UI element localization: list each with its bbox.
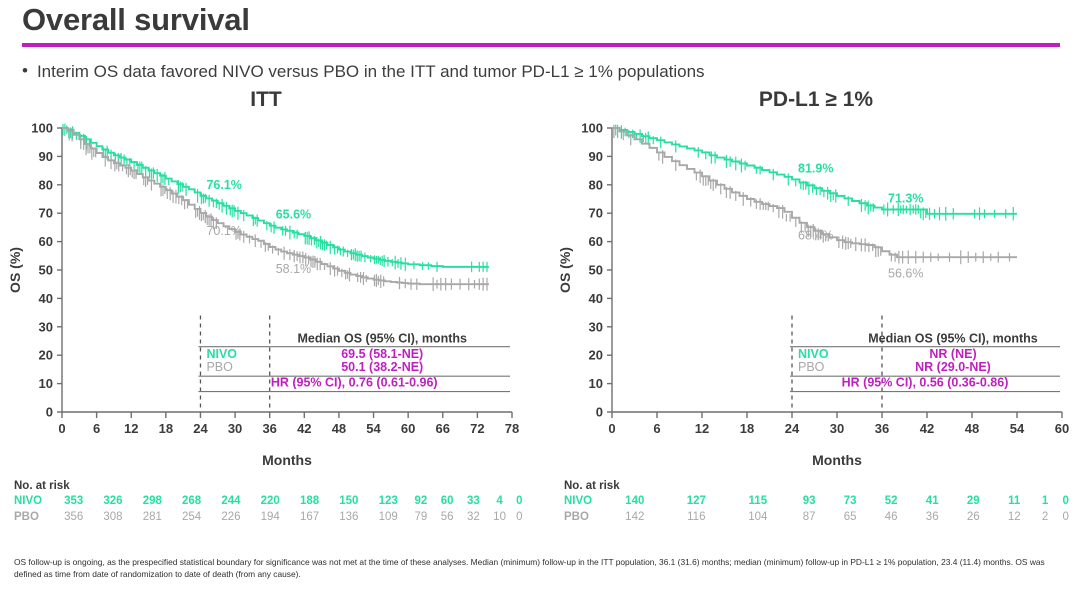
at-risk-cell: 167 [290, 510, 329, 526]
at-risk-cell: 0 [1055, 510, 1076, 526]
at-risk-row-label: PBO [564, 510, 604, 526]
at-risk-cell: 356 [54, 510, 93, 526]
at-risk-row-pbo: PBO356308281254226194167136109795632100 [14, 510, 526, 526]
at-risk-cell: 0 [1055, 494, 1076, 510]
svg-text:OS (%): OS (%) [557, 247, 573, 293]
at-risk-cell: 326 [93, 494, 132, 510]
page-title: Overall survival [22, 2, 250, 38]
title-underline-rule [22, 43, 1060, 47]
svg-text:Median OS (95% CI), months: Median OS (95% CI), months [868, 331, 1038, 345]
at-risk-cell: 127 [666, 494, 728, 510]
at-risk-cell: 2 [1035, 510, 1056, 526]
at-risk-cell: 32 [460, 510, 486, 526]
svg-text:58.1%: 58.1% [276, 262, 311, 276]
at-risk-cell: 268 [172, 494, 211, 510]
at-risk-cell: 298 [133, 494, 172, 510]
bullet-text: Interim OS data favored NIVO versus PBO … [37, 62, 705, 82]
km-plot-itt: 0102030405060708090100061218243036424854… [6, 118, 526, 468]
at-risk-cell: 104 [727, 510, 789, 526]
chart-panel-itt: ITT 010203040506070809010006121824303642… [6, 88, 526, 558]
svg-text:70: 70 [589, 206, 603, 221]
svg-text:90: 90 [39, 149, 53, 164]
at-risk-table-pdl1: NIVO14012711593735241291110PBO1421161048… [564, 494, 1076, 525]
at-risk-cell: 33 [460, 494, 486, 510]
at-risk-cell: 188 [290, 494, 329, 510]
svg-text:0: 0 [596, 405, 603, 420]
at-risk-cell: 26 [953, 510, 994, 526]
svg-text:56.6%: 56.6% [888, 266, 923, 280]
svg-text:65.6%: 65.6% [276, 208, 311, 222]
at-risk-cell: 194 [251, 510, 290, 526]
at-risk-block-pdl1: No. at risk NIVO14012711593735241291110P… [564, 480, 1076, 525]
at-risk-row-label: PBO [14, 510, 54, 526]
bullet-list: • Interim OS data favored NIVO versus PB… [22, 62, 705, 82]
svg-text:30: 30 [589, 319, 603, 334]
svg-text:10: 10 [589, 376, 603, 391]
svg-text:72: 72 [470, 421, 484, 436]
svg-text:60: 60 [39, 234, 53, 249]
at-risk-cell: 281 [133, 510, 172, 526]
svg-text:30: 30 [830, 421, 844, 436]
at-risk-row-nivo: NIVO35332629826824422018815012392603340 [14, 494, 526, 510]
svg-text:100: 100 [581, 121, 603, 136]
at-risk-cell: 308 [93, 510, 132, 526]
svg-text:70.1%: 70.1% [206, 224, 241, 238]
svg-text:PBO: PBO [798, 360, 825, 374]
svg-text:10: 10 [39, 376, 53, 391]
at-risk-table-itt: NIVO35332629826824422018815012392603340P… [14, 494, 526, 525]
at-risk-cell: 93 [789, 494, 830, 510]
at-risk-title-pdl1: No. at risk [564, 480, 1076, 492]
at-risk-cell: 1 [1035, 494, 1056, 510]
at-risk-cell: 4 [486, 494, 512, 510]
svg-text:0: 0 [58, 421, 65, 436]
km-plot-svg-itt: 0102030405060708090100061218243036424854… [6, 118, 526, 468]
svg-text:6: 6 [653, 421, 660, 436]
at-risk-title-itt: No. at risk [14, 480, 526, 492]
svg-text:0: 0 [46, 405, 53, 420]
svg-text:12: 12 [695, 421, 709, 436]
at-risk-cell: 12 [994, 510, 1035, 526]
svg-text:48: 48 [965, 421, 979, 436]
at-risk-cell: 29 [953, 494, 994, 510]
svg-text:70: 70 [39, 206, 53, 221]
at-risk-cell: 41 [912, 494, 953, 510]
chart-panel-pdl1: PD-L1 ≥ 1% 01020304050607080901000612182… [556, 88, 1076, 558]
svg-text:24: 24 [193, 421, 208, 436]
at-risk-cell: 150 [329, 494, 368, 510]
svg-text:90: 90 [589, 149, 603, 164]
svg-text:80: 80 [39, 177, 53, 192]
svg-text:18: 18 [159, 421, 173, 436]
svg-text:66: 66 [436, 421, 450, 436]
chart-title-itt: ITT [6, 88, 526, 112]
svg-text:68.4%: 68.4% [798, 229, 833, 243]
svg-text:50: 50 [39, 263, 53, 278]
svg-text:36: 36 [875, 421, 889, 436]
svg-text:Median OS (95% CI), months: Median OS (95% CI), months [297, 331, 467, 345]
svg-text:30: 30 [39, 319, 53, 334]
svg-text:6: 6 [93, 421, 100, 436]
at-risk-cell: 36 [912, 510, 953, 526]
svg-text:78: 78 [505, 421, 519, 436]
chart-title-pdl1: PD-L1 ≥ 1% [556, 88, 1076, 112]
svg-text:OS (%): OS (%) [7, 247, 23, 293]
at-risk-cell: 56 [434, 510, 460, 526]
svg-text:60: 60 [589, 234, 603, 249]
svg-text:54: 54 [1010, 421, 1025, 436]
svg-text:12: 12 [124, 421, 138, 436]
svg-text:0: 0 [608, 421, 615, 436]
svg-text:24: 24 [785, 421, 800, 436]
svg-text:54: 54 [366, 421, 381, 436]
svg-text:50: 50 [589, 263, 603, 278]
at-risk-cell: 226 [211, 510, 250, 526]
at-risk-cell: 254 [172, 510, 211, 526]
svg-text:76.1%: 76.1% [206, 178, 241, 192]
at-risk-cell: 92 [408, 494, 434, 510]
at-risk-cell: 46 [871, 510, 912, 526]
svg-text:20: 20 [39, 348, 53, 363]
at-risk-cell: 136 [329, 510, 368, 526]
at-risk-cell: 115 [727, 494, 789, 510]
at-risk-cell: 65 [830, 510, 871, 526]
at-risk-block-itt: No. at risk NIVO353326298268244220188150… [14, 480, 526, 525]
svg-text:81.9%: 81.9% [798, 161, 833, 175]
at-risk-cell: 220 [251, 494, 290, 510]
svg-text:Months: Months [812, 452, 862, 468]
at-risk-cell: 244 [211, 494, 250, 510]
svg-text:71.3%: 71.3% [888, 192, 923, 206]
svg-text:18: 18 [740, 421, 754, 436]
at-risk-cell: 140 [604, 494, 666, 510]
at-risk-cell: 10 [486, 510, 512, 526]
svg-text:50.1 (38.2-NE): 50.1 (38.2-NE) [341, 360, 423, 374]
slide-root: Overall survival • Interim OS data favor… [0, 0, 1080, 594]
svg-text:60: 60 [401, 421, 415, 436]
svg-text:100: 100 [31, 121, 53, 136]
at-risk-row-label: NIVO [14, 494, 54, 510]
at-risk-cell: 11 [994, 494, 1035, 510]
footnote: OS follow-up is ongoing, as the prespeci… [14, 556, 1066, 580]
svg-text:42: 42 [297, 421, 311, 436]
at-risk-row-nivo: NIVO14012711593735241291110 [564, 494, 1076, 510]
svg-text:40: 40 [39, 291, 53, 306]
svg-text:48: 48 [332, 421, 346, 436]
svg-text:Months: Months [262, 452, 312, 468]
svg-text:40: 40 [589, 291, 603, 306]
km-plot-pdl1: 0102030405060708090100061218243036424854… [556, 118, 1076, 468]
at-risk-cell: 60 [434, 494, 460, 510]
at-risk-cell: 142 [604, 510, 666, 526]
at-risk-cell: 87 [789, 510, 830, 526]
at-risk-cell: 123 [369, 494, 408, 510]
at-risk-cell: 52 [871, 494, 912, 510]
at-risk-cell: 109 [369, 510, 408, 526]
at-risk-row-pbo: PBO14211610487654636261220 [564, 510, 1076, 526]
svg-text:36: 36 [262, 421, 276, 436]
svg-text:20: 20 [589, 348, 603, 363]
at-risk-cell: 0 [513, 510, 526, 526]
svg-text:60: 60 [1055, 421, 1069, 436]
svg-text:PBO: PBO [206, 360, 233, 374]
svg-text:HR (95% CI), 0.76 (0.61-0.96): HR (95% CI), 0.76 (0.61-0.96) [271, 375, 438, 389]
at-risk-cell: 353 [54, 494, 93, 510]
bullet-marker: • [22, 62, 28, 81]
svg-text:42: 42 [920, 421, 934, 436]
svg-text:NR (29.0-NE): NR (29.0-NE) [915, 360, 991, 374]
svg-text:HR (95% CI), 0.56 (0.36-0.86): HR (95% CI), 0.56 (0.36-0.86) [842, 375, 1009, 389]
at-risk-cell: 73 [830, 494, 871, 510]
svg-text:30: 30 [228, 421, 242, 436]
at-risk-row-label: NIVO [564, 494, 604, 510]
at-risk-cell: 116 [666, 510, 728, 526]
svg-text:80: 80 [589, 177, 603, 192]
at-risk-cell: 0 [513, 494, 526, 510]
at-risk-cell: 79 [408, 510, 434, 526]
km-plot-svg-pdl1: 0102030405060708090100061218243036424854… [556, 118, 1076, 468]
